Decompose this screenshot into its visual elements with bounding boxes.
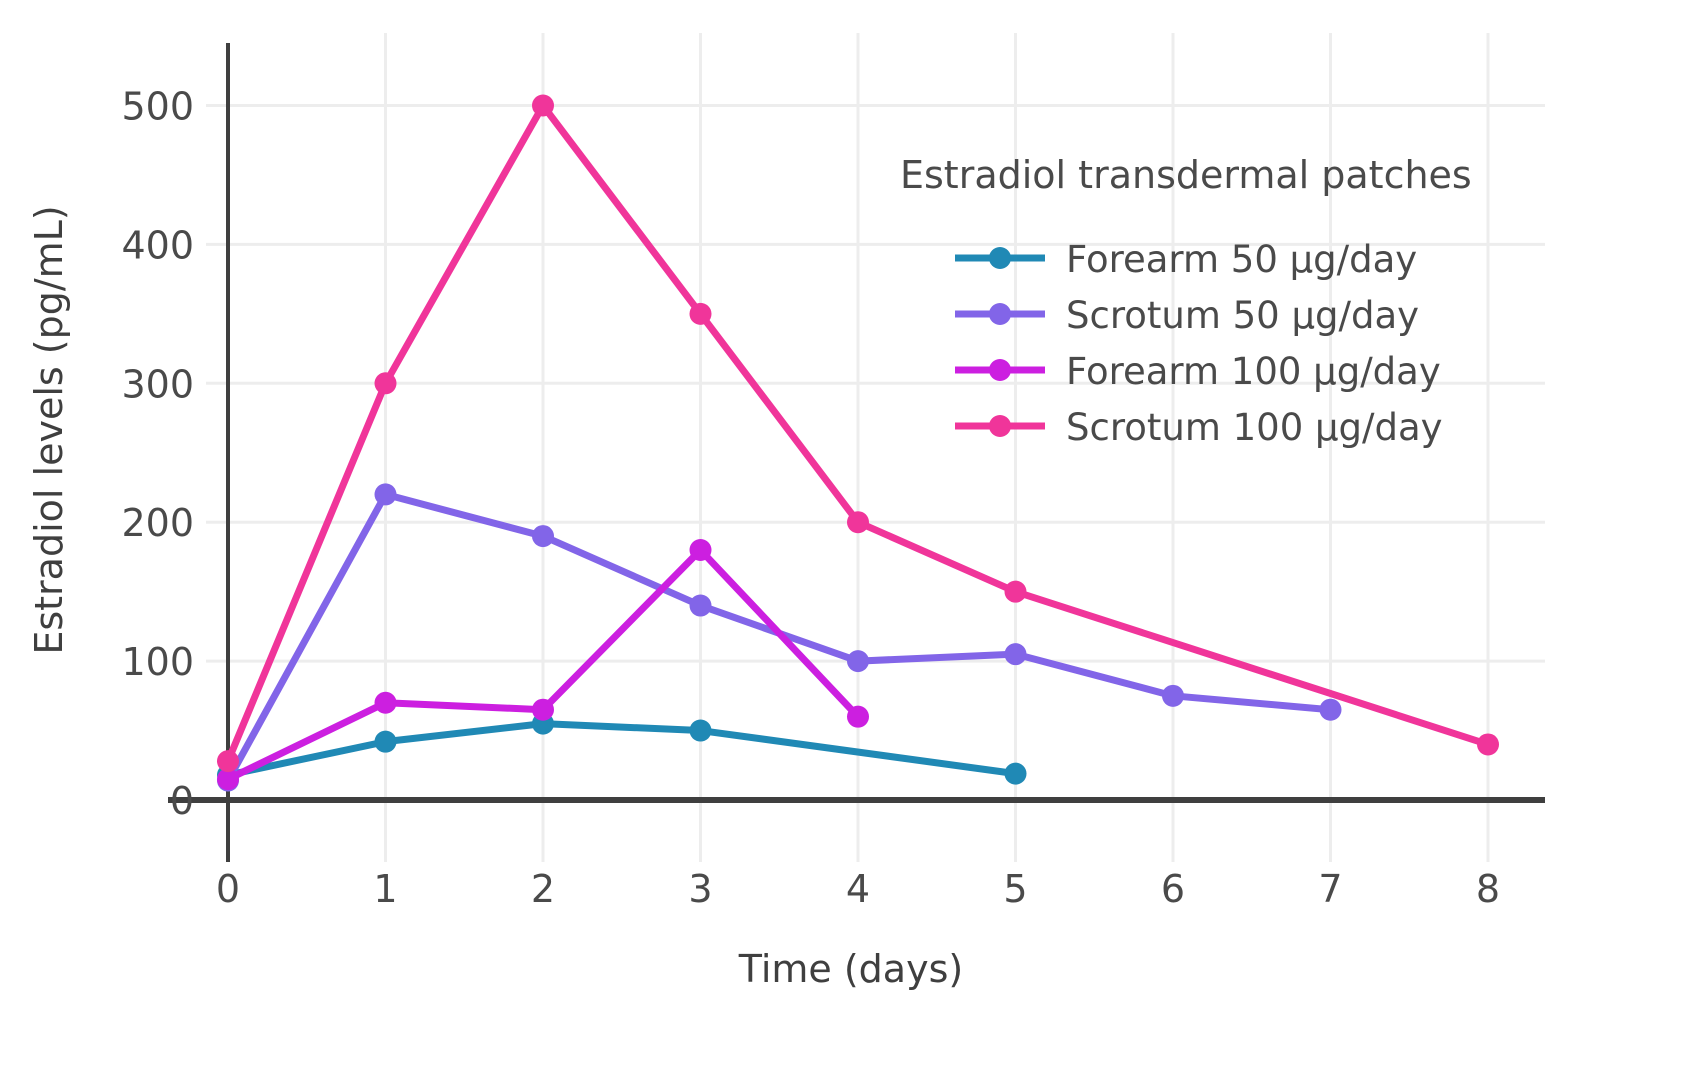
- data-point-marker: [375, 731, 397, 753]
- data-point-marker: [1477, 733, 1499, 755]
- data-point-marker: [375, 483, 397, 505]
- x-tick-label: 0: [216, 867, 240, 911]
- data-point-marker: [1162, 685, 1184, 707]
- legend-item-label: Scrotum 100 µg/day: [1066, 406, 1443, 449]
- data-point-marker: [375, 372, 397, 394]
- data-point-marker: [847, 706, 869, 728]
- x-tick-label: 6: [1161, 867, 1185, 911]
- data-point-marker: [847, 511, 869, 533]
- legend-swatch-marker: [989, 303, 1011, 325]
- data-point-marker: [690, 720, 712, 742]
- legend-swatch-marker: [989, 359, 1011, 381]
- chart-figure: 0100200300400500 012345678 Estradiol tra…: [0, 0, 1681, 1090]
- legend-item-label: Forearm 50 µg/day: [1066, 238, 1417, 281]
- y-axis-title: Estradiol levels (pg/mL): [27, 205, 71, 654]
- y-tick-label: 100: [121, 640, 194, 684]
- x-tick-label: 3: [688, 867, 712, 911]
- data-point-marker: [532, 699, 554, 721]
- data-point-marker: [1005, 643, 1027, 665]
- x-tick-label: 4: [846, 867, 870, 911]
- y-tick-label: 0: [170, 779, 194, 823]
- x-axis-title: Time (days): [738, 947, 963, 991]
- data-point-marker: [690, 303, 712, 325]
- y-tick-label: 500: [121, 85, 194, 129]
- data-point-marker: [1005, 581, 1027, 603]
- y-tick-label: 200: [121, 501, 194, 545]
- legend-item-label: Scrotum 50 µg/day: [1066, 294, 1419, 337]
- data-point-marker: [217, 750, 239, 772]
- x-tick-label: 7: [1318, 867, 1342, 911]
- y-tick-label: 300: [121, 362, 194, 406]
- legend-swatch-marker: [989, 415, 1011, 437]
- data-point-marker: [532, 95, 554, 117]
- x-tick-label: 8: [1476, 867, 1500, 911]
- data-point-marker: [690, 539, 712, 561]
- legend-swatch-marker: [989, 247, 1011, 269]
- data-point-marker: [532, 525, 554, 547]
- y-tick-label: 400: [121, 223, 194, 267]
- data-point-marker: [1005, 763, 1027, 785]
- data-point-marker: [1320, 699, 1342, 721]
- legend-title: Estradiol transdermal patches: [900, 153, 1472, 197]
- data-point-marker: [375, 692, 397, 714]
- data-point-marker: [690, 595, 712, 617]
- x-tick-label: 1: [373, 867, 397, 911]
- line-chart: 0100200300400500 012345678 Estradiol tra…: [0, 0, 1681, 1090]
- x-tick-label: 2: [531, 867, 555, 911]
- legend-item-label: Forearm 100 µg/day: [1066, 350, 1441, 393]
- x-tick-label: 5: [1003, 867, 1027, 911]
- data-point-marker: [847, 650, 869, 672]
